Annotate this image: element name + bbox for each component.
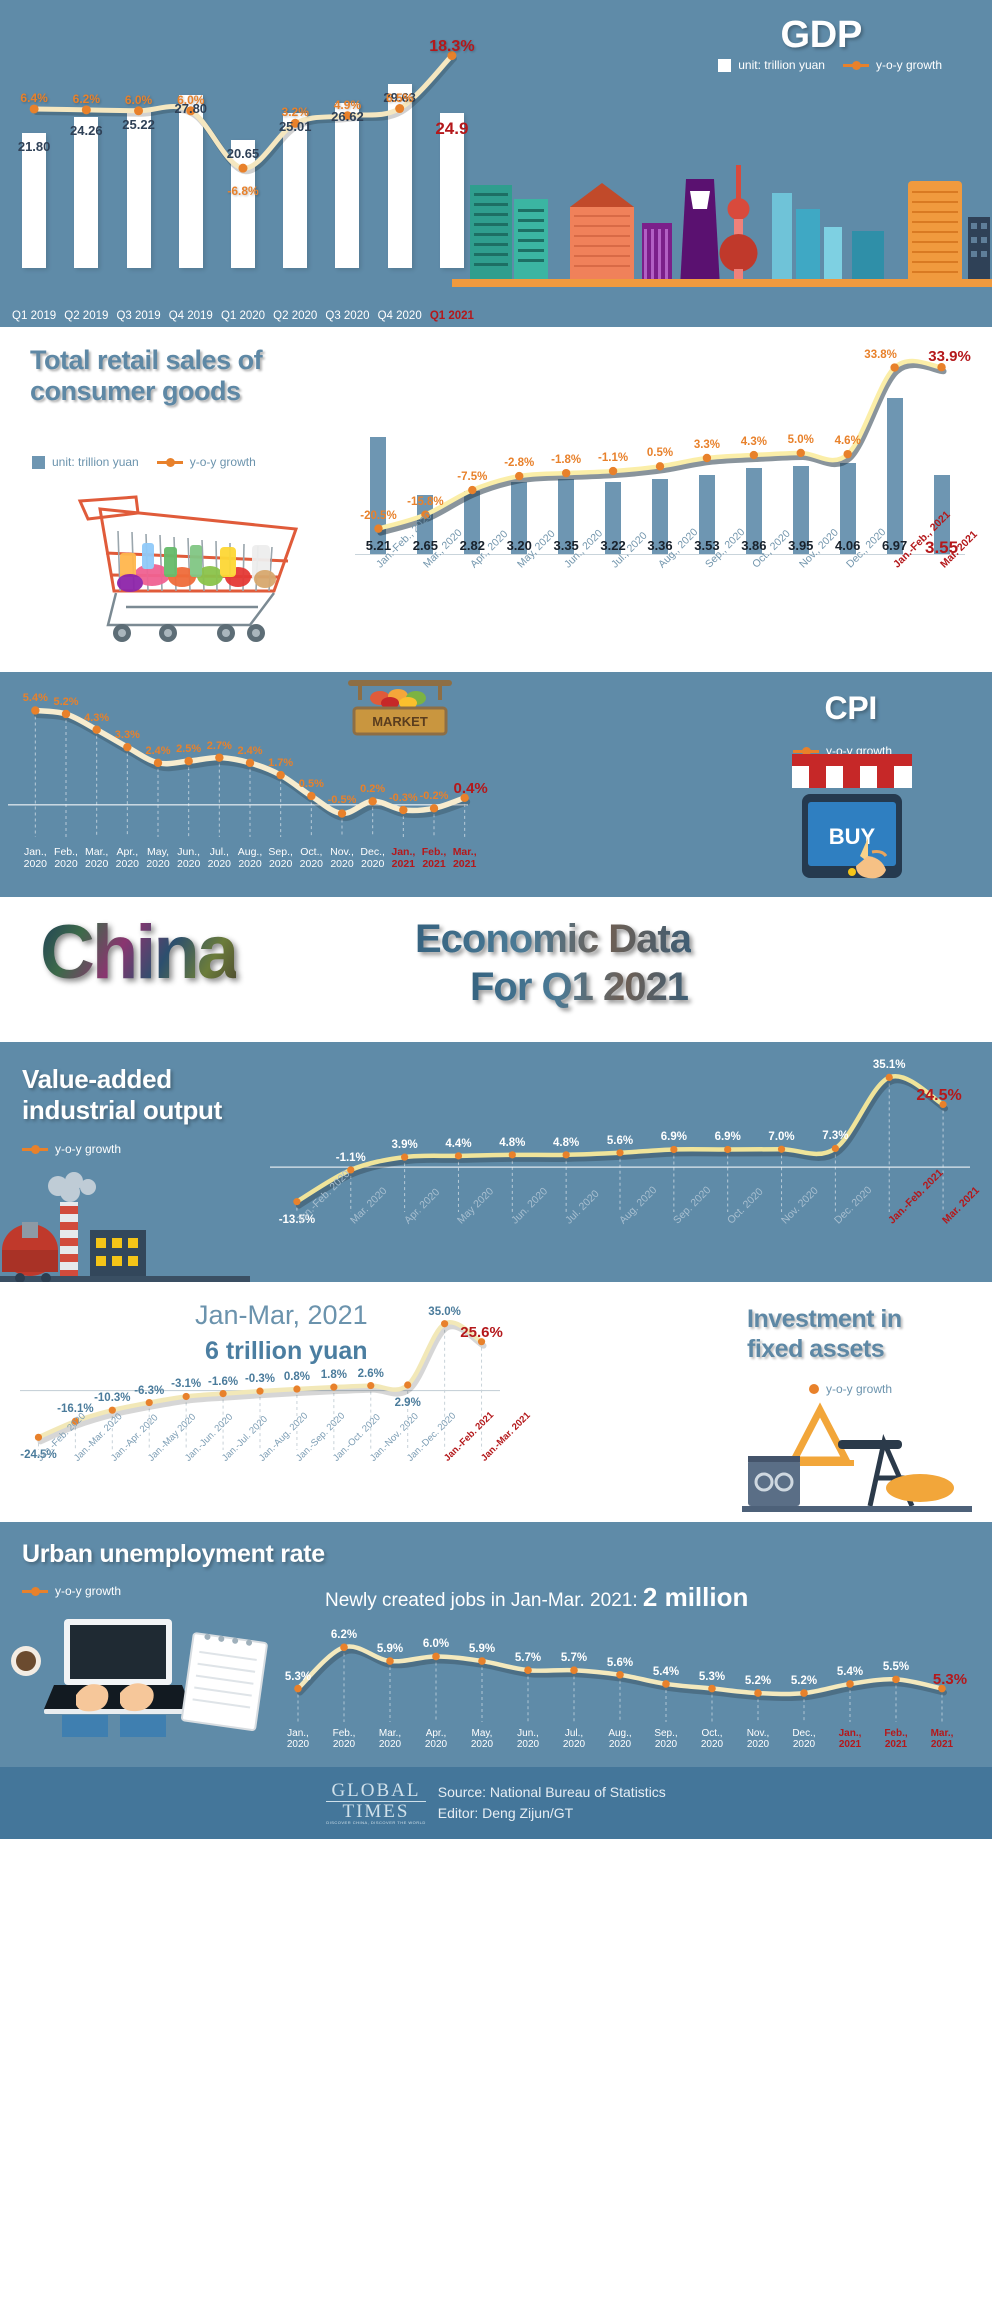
legend-label: unit: trillion yuan xyxy=(52,455,139,469)
brand-line2: TIMES xyxy=(326,1802,426,1821)
industrial-chart: -13.5%-1.1%3.9%4.4%4.8%4.8%5.6%6.9%6.9%7… xyxy=(270,1052,970,1212)
gdp-bar-value: 25.22 xyxy=(122,117,155,132)
retail-growth-label: 0.5% xyxy=(647,447,673,459)
factory-illustration xyxy=(0,1172,250,1282)
brand-tagline: DISCOVER CHINA, DISCOVER THE WORLD xyxy=(326,1821,426,1825)
fixed-growth-label: 25.6% xyxy=(460,1324,503,1341)
industrial-legend: y-o-y growth xyxy=(22,1142,121,1156)
industrial-growth-label: 7.0% xyxy=(768,1131,794,1143)
section-industrial-output: Value-added industrial output y-o-y grow… xyxy=(0,1042,992,1282)
unemployment-x-label: Apr.,2020 xyxy=(425,1728,447,1750)
banner-line2: For Q1 2021 xyxy=(470,965,688,1010)
fixed-growth-label: 1.8% xyxy=(321,1369,347,1381)
fixed-growth-label: -16.1% xyxy=(57,1403,93,1415)
banner-line1: Economic Data xyxy=(415,917,691,962)
cpi-x-label: Jul.,2020 xyxy=(208,847,231,871)
footer-editor: Editor: Deng Zijun/GT xyxy=(438,1803,666,1824)
shopping-cart-illustration xyxy=(60,487,330,647)
cpi-title: CPI xyxy=(825,690,877,727)
retail-chart: 5.212.652.823.203.353.223.363.533.863.95… xyxy=(355,349,965,589)
retail-growth-label: -2.8% xyxy=(504,457,534,469)
unemployment-x-label: Feb.,2020 xyxy=(333,1728,356,1750)
unemployment-rate-label: 5.9% xyxy=(469,1643,495,1655)
unemployment-rate-label: 5.3% xyxy=(285,1671,311,1683)
industrial-growth-label: 4.4% xyxy=(445,1138,471,1150)
cpi-growth-label: 2.4% xyxy=(145,745,170,757)
gdp-growth-label: 18.3% xyxy=(429,38,474,56)
unemployment-rate-label: 5.2% xyxy=(745,1675,771,1687)
fixed-growth-label: 2.9% xyxy=(395,1397,421,1409)
legend-item-line: y-o-y growth xyxy=(809,1382,892,1396)
unemployment-rate-label: 5.7% xyxy=(561,1652,587,1664)
legend-label: y-o-y growth xyxy=(876,58,942,72)
banner-china-word: China xyxy=(40,909,236,996)
fixed-growth-label: -0.3% xyxy=(245,1373,275,1385)
footer: GLOBAL TIMES DISCOVER CHINA, DISCOVER TH… xyxy=(0,1767,992,1839)
cpi-x-label: Dec.,2020 xyxy=(360,847,385,871)
industrial-growth-label: 7.3% xyxy=(822,1130,848,1142)
industrial-growth-label: 4.8% xyxy=(499,1137,525,1149)
retail-growth-label: -20.5% xyxy=(360,510,396,522)
fixed-growth-label: -1.6% xyxy=(208,1376,238,1388)
retail-title: Total retail sales of consumer goods xyxy=(30,345,330,407)
gdp-bar-value: 21.80 xyxy=(18,139,51,154)
gdp-growth-label: -6.8% xyxy=(227,184,258,198)
cpi-growth-label: 3.3% xyxy=(115,729,140,741)
line-marker-icon xyxy=(843,64,869,67)
legend-item-line: y-o-y growth xyxy=(157,455,256,469)
gdp-growth-label: 6.5% xyxy=(386,91,413,105)
unemployment-x-label: Nov.,2020 xyxy=(747,1728,770,1750)
industrial-growth-label: 35.1% xyxy=(873,1059,906,1071)
legend-label: y-o-y growth xyxy=(190,455,256,469)
cpi-growth-label: -0.2% xyxy=(420,790,449,802)
gdp-x-label: Q1 2021 xyxy=(430,310,474,322)
gdp-x-label: Q2 2019 xyxy=(64,310,108,322)
unemployment-x-label: Mar.,2021 xyxy=(931,1728,954,1750)
section-fixed-assets: Investment in fixed assets y-o-y growth … xyxy=(0,1282,992,1522)
gdp-chart: 21.8024.2625.2227.8020.6525.0126.6229.63… xyxy=(8,18,478,268)
cpi-x-label: Mar.,2020 xyxy=(85,847,108,871)
fixed-growth-label: -10.3% xyxy=(94,1392,130,1404)
gdp-x-label: Q4 2020 xyxy=(378,310,422,322)
footer-source: Source: National Bureau of Statistics xyxy=(438,1782,666,1803)
section-retail-sales: Total retail sales of consumer goods uni… xyxy=(0,327,992,672)
industrial-title-line1: Value-added xyxy=(22,1064,282,1095)
gdp-legend: unit: trillion yuan y-o-y growth xyxy=(718,58,942,72)
section-banner: China Economic Data For Q1 2021 xyxy=(0,897,992,1042)
gdp-growth-label: 6.2% xyxy=(73,92,100,106)
gdp-growth-label: 6.4% xyxy=(20,91,47,105)
gdp-x-label: Q4 2019 xyxy=(169,310,213,322)
gdp-growth-label: 3.2% xyxy=(282,105,309,119)
retail-growth-label: -1.1% xyxy=(598,452,628,464)
unemployment-x-label: Oct.,2020 xyxy=(701,1728,723,1750)
cpi-x-label: Jan.,2020 xyxy=(24,847,47,871)
gdp-bar-value: 25.01 xyxy=(279,119,312,134)
unemployment-rate-label: 5.4% xyxy=(653,1666,679,1678)
retail-axis xyxy=(355,554,965,555)
cpi-x-label: Mar.,2021 xyxy=(453,847,477,871)
gdp-title: GDP xyxy=(781,14,862,57)
unemployment-rate-label: 5.6% xyxy=(607,1657,633,1669)
line-marker-icon xyxy=(157,461,183,464)
global-times-logo: GLOBAL TIMES DISCOVER CHINA, DISCOVER TH… xyxy=(326,1781,426,1825)
fixed-title: Investment in fixed assets xyxy=(747,1304,962,1364)
unemployment-rate-label: 5.3% xyxy=(699,1671,725,1683)
infographic-page: GDP unit: trillion yuan y-o-y growth 21.… xyxy=(0,0,992,1839)
line-marker-icon xyxy=(22,1148,48,1151)
industrial-growth-label: 6.9% xyxy=(661,1131,687,1143)
retail-growth-label: 33.8% xyxy=(864,349,897,361)
industrial-title: Value-added industrial output xyxy=(22,1064,282,1125)
brand-line1: GLOBAL xyxy=(326,1781,426,1802)
gdp-x-label: Q3 2019 xyxy=(116,310,160,322)
cpi-growth-label: 2.5% xyxy=(176,743,201,755)
retail-title-line2: consumer goods xyxy=(30,376,330,407)
cpi-growth-label: -0.5% xyxy=(328,794,357,806)
footer-credits: Source: National Bureau of Statistics Ed… xyxy=(438,1782,666,1824)
legend-item-line: y-o-y growth xyxy=(22,1584,121,1598)
unemployment-x-label: May,2020 xyxy=(471,1728,493,1750)
industrial-growth-label: 5.6% xyxy=(607,1135,633,1147)
gdp-line-svg xyxy=(8,18,478,268)
unemployment-x-label: Feb.,2021 xyxy=(884,1728,907,1750)
skyline-illustration xyxy=(452,157,992,287)
cpi-x-label: May,2020 xyxy=(146,847,169,871)
unemployment-rate-label: 5.3% xyxy=(933,1671,967,1688)
legend-label: unit: trillion yuan xyxy=(738,58,825,72)
unemployment-rate-label: 6.2% xyxy=(331,1629,357,1641)
gdp-x-label: Q1 2020 xyxy=(221,310,265,322)
unemployment-rate-label: 5.7% xyxy=(515,1652,541,1664)
unemployment-rate-label: 5.9% xyxy=(377,1643,403,1655)
cpi-x-label: Sep.,2020 xyxy=(268,847,293,871)
industrial-growth-label: 4.8% xyxy=(553,1137,579,1149)
section-gdp: GDP unit: trillion yuan y-o-y growth 21.… xyxy=(0,0,992,327)
cpi-growth-label: 2.4% xyxy=(237,745,262,757)
unemployment-rate-label: 6.0% xyxy=(423,1638,449,1650)
fixed-growth-label: -3.1% xyxy=(171,1378,201,1390)
unemployment-x-label: Jun.,2020 xyxy=(517,1728,539,1750)
fixed-growth-label: 35.0% xyxy=(428,1306,461,1318)
cpi-x-label: Apr.,2020 xyxy=(116,847,139,871)
gdp-x-label: Q2 2020 xyxy=(273,310,317,322)
retail-growth-label: 3.3% xyxy=(694,439,720,451)
unemployment-x-label: Jan.,2021 xyxy=(839,1728,862,1750)
fixed-legend: y-o-y growth xyxy=(809,1382,892,1396)
legend-item-bar: unit: trillion yuan xyxy=(718,58,825,72)
cpi-growth-label: 4.3% xyxy=(84,712,109,724)
gdp-x-label: Q3 2020 xyxy=(325,310,369,322)
retail-growth-label: -1.8% xyxy=(551,454,581,466)
retail-growth-label: 5.0% xyxy=(788,434,814,446)
unemployment-rate-label: 5.2% xyxy=(791,1675,817,1687)
unemployment-x-label: Sep.,2020 xyxy=(654,1728,677,1750)
legend-label: y-o-y growth xyxy=(55,1142,121,1156)
cpi-growth-label: 0.5% xyxy=(299,778,324,790)
industrial-growth-label: 3.9% xyxy=(392,1139,418,1151)
line-marker-icon xyxy=(22,1590,48,1593)
unemployment-legend: y-o-y growth xyxy=(22,1584,121,1598)
buy-shop-illustration: BUY xyxy=(772,752,932,892)
fixed-title-line1: Investment in xyxy=(747,1304,962,1334)
cpi-x-label: Jun.,2020 xyxy=(177,847,200,871)
legend-label: y-o-y growth xyxy=(55,1584,121,1598)
unemployment-rate-label: 5.5% xyxy=(883,1661,909,1673)
fixed-growth-label: 0.8% xyxy=(284,1371,310,1383)
retail-growth-label: 33.9% xyxy=(928,348,971,365)
retail-growth-label: 4.3% xyxy=(741,436,767,448)
industrial-growth-label: 6.9% xyxy=(715,1131,741,1143)
cpi-growth-label: 2.7% xyxy=(207,740,232,752)
legend-label: y-o-y growth xyxy=(826,1382,892,1396)
unemployment-x-label: Aug.,2020 xyxy=(608,1728,631,1750)
gdp-x-label: Q1 2019 xyxy=(12,310,56,322)
retail-legend: unit: trillion yuan y-o-y growth xyxy=(32,455,256,469)
cpi-x-label: Nov.,2020 xyxy=(330,847,354,871)
square-swatch-icon xyxy=(718,59,731,72)
unemployment-x-label: Jan.,2020 xyxy=(287,1728,309,1750)
retail-growth-label: -7.5% xyxy=(457,471,487,483)
fixed-chart: -24.5%-16.1%-10.3%-6.3%-3.1%-1.6%-0.3%0.… xyxy=(20,1300,500,1450)
unemployment-rate-label: 5.4% xyxy=(837,1666,863,1678)
section-unemployment: Urban unemployment rate y-o-y growth New… xyxy=(0,1522,992,1767)
unemployment-chart: 5.3%6.2%5.9%6.0%5.9%5.7%5.7%5.6%5.4%5.3%… xyxy=(275,1607,965,1722)
unemployment-x-label: Dec.,2020 xyxy=(792,1728,815,1750)
cpi-growth-label: 5.2% xyxy=(53,696,78,708)
legend-item-line: y-o-y growth xyxy=(843,58,942,72)
oil-pump-illustration xyxy=(742,1396,972,1516)
cpi-x-label: Feb.,2020 xyxy=(54,847,78,871)
retail-title-line1: Total retail sales of xyxy=(30,345,330,376)
square-swatch-icon xyxy=(32,456,45,469)
gdp-growth-label: 4.9% xyxy=(334,98,361,112)
gdp-growth-label: 6.0% xyxy=(177,93,204,107)
unemployment-x-label: Mar.,2020 xyxy=(379,1728,401,1750)
dot-marker-icon xyxy=(809,1384,819,1394)
laptop-hands-illustration xyxy=(10,1617,275,1737)
gdp-bar-value: 24.26 xyxy=(70,123,103,138)
retail-growth-label: 4.6% xyxy=(835,435,861,447)
fixed-title-line2: fixed assets xyxy=(747,1334,962,1364)
gdp-bar-value: 24.9 xyxy=(435,119,468,139)
buy-label: BUY xyxy=(829,824,876,849)
gdp-bar-value: 20.65 xyxy=(227,146,260,161)
cpi-x-label: Aug.,2020 xyxy=(238,847,263,871)
industrial-title-line2: industrial output xyxy=(22,1095,282,1126)
cpi-chart: 5.4%5.2%4.3%3.3%2.4%2.5%2.7%2.4%1.7%0.5%… xyxy=(8,684,468,839)
industrial-growth-label: -1.1% xyxy=(336,1152,366,1164)
cpi-growth-label: 0.4% xyxy=(454,780,488,797)
legend-item-bar: unit: trillion yuan xyxy=(32,455,139,469)
fixed-growth-label: 2.6% xyxy=(358,1368,384,1380)
section-cpi: CPI y-o-y growth MARKET xyxy=(0,672,992,897)
cpi-growth-label: -0.3% xyxy=(389,792,418,804)
gdp-growth-label: 6.0% xyxy=(125,93,152,107)
legend-item-line: y-o-y growth xyxy=(22,1142,121,1156)
industrial-growth-label: 24.5% xyxy=(916,1087,961,1105)
cpi-growth-label: 5.4% xyxy=(23,692,48,704)
fixed-growth-label: -6.3% xyxy=(134,1385,164,1397)
unemployment-x-label: Jul.,2020 xyxy=(563,1728,585,1750)
cpi-growth-label: 0.2% xyxy=(360,783,385,795)
cpi-x-label: Oct.,2020 xyxy=(300,847,323,871)
unemployment-title: Urban unemployment rate xyxy=(22,1540,325,1569)
retail-growth-label: -15.8% xyxy=(407,496,443,508)
cpi-x-label: Feb.,2021 xyxy=(422,847,447,871)
cpi-x-label: Jan.,2021 xyxy=(391,847,415,871)
cpi-growth-label: 1.7% xyxy=(268,757,293,769)
